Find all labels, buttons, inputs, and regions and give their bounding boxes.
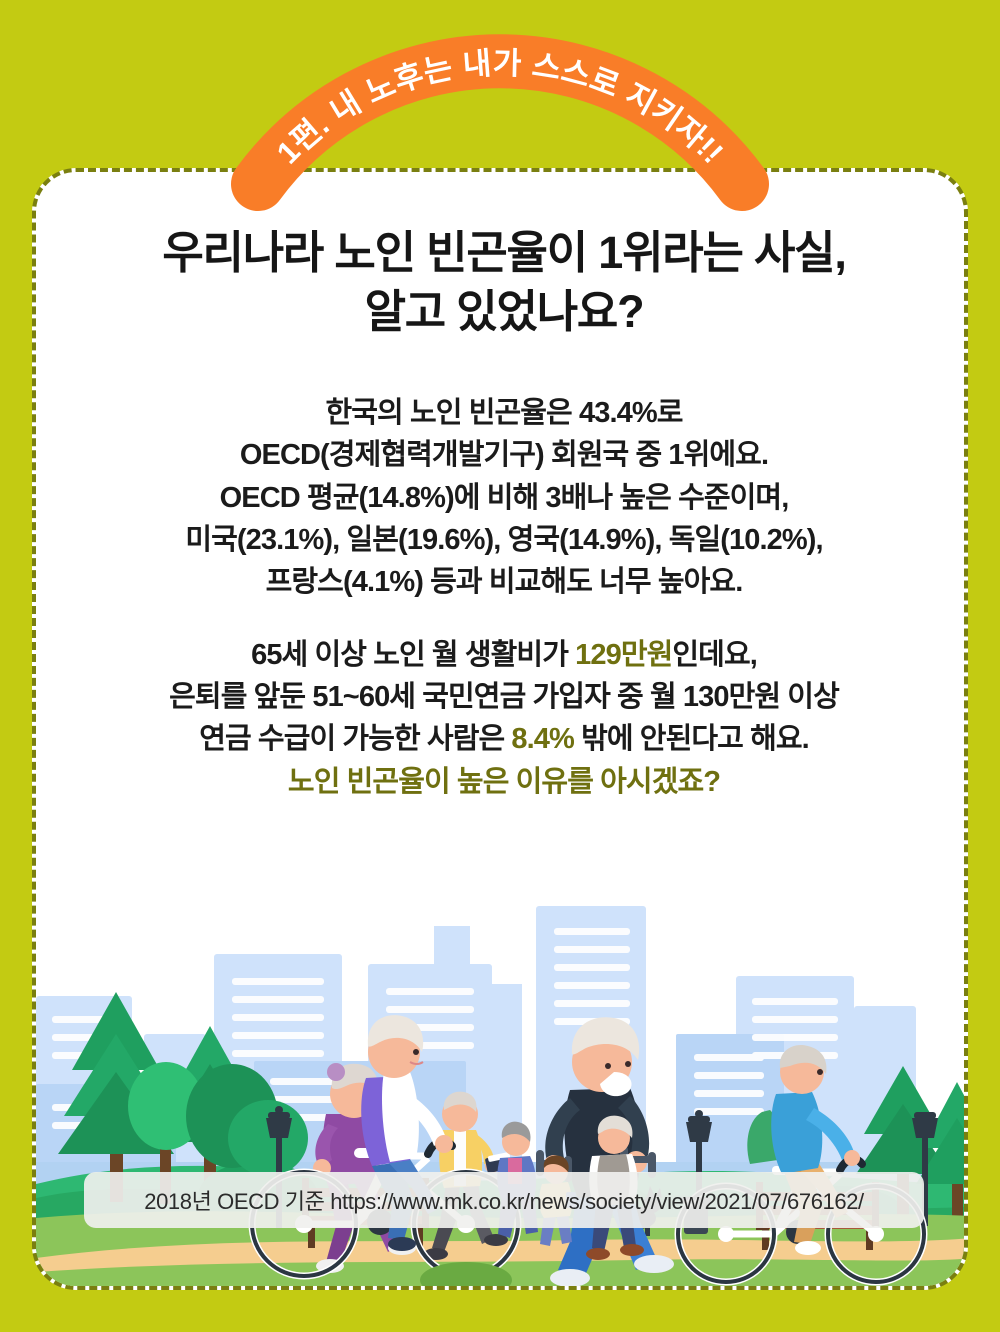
- content-card: 우리나라 노인 빈곤율이 1위라는 사실, 알고 있었나요? 한국의 노인 빈곤…: [32, 168, 968, 1290]
- heading-line-1: 우리나라 노인 빈곤율이 1위라는 사실,: [36, 224, 968, 283]
- highlight-pension-share: 8.4%: [511, 723, 574, 755]
- p1-line-5: 프랑스(4.1%) 등과 비교해도 너무 높아요.: [36, 561, 968, 603]
- paragraph-oecd-comparison: 한국의 노인 빈곤율은 43.4%로 OECD(경제협력개발기구) 회원국 중 …: [36, 392, 968, 604]
- p2-line-3: 연금 수급이 가능한 사람은 8.4% 밖에 안된다고 해요.: [36, 718, 968, 760]
- p1-line-1: 한국의 노인 빈곤율은 43.4%로: [36, 392, 968, 434]
- p2-line-1-prefix: 65세 이상 노인 월 생활비가: [251, 639, 575, 671]
- p2-line-3-prefix: 연금 수급이 가능한 사람은: [199, 723, 511, 755]
- p2-line-1: 65세 이상 노인 월 생활비가 129만원인데요,: [36, 634, 968, 676]
- source-text: 2018년 OECD 기준 https://www.mk.co.kr/news/…: [144, 1184, 864, 1216]
- paragraph-pension-gap: 65세 이상 노인 월 생활비가 129만원인데요, 은퇴를 앞둔 51~60세…: [36, 634, 968, 803]
- p2-line-3-suffix: 밖에 안된다고 해요.: [574, 723, 809, 755]
- poster-canvas: 우리나라 노인 빈곤율이 1위라는 사실, 알고 있었나요? 한국의 노인 빈곤…: [0, 0, 1000, 1332]
- page-title: 우리나라 노인 빈곤율이 1위라는 사실, 알고 있었나요?: [36, 224, 968, 341]
- heading-line-2: 알고 있었나요?: [36, 283, 968, 342]
- arched-banner: 1편. 내 노후는 내가 스스로 지키자!!: [0, 56, 1000, 186]
- body-copy: 한국의 노인 빈곤율은 43.4%로 OECD(경제협력개발기구) 회원국 중 …: [36, 392, 968, 803]
- highlight-living-cost: 129만원: [575, 639, 672, 671]
- p1-line-3: OECD 평균(14.8%)에 비해 3배나 높은 수준이며,: [36, 477, 968, 519]
- p2-line-1-suffix: 인데요,: [672, 639, 757, 671]
- banner-ribbon: [258, 61, 742, 184]
- p1-line-4: 미국(23.1%), 일본(19.6%), 영국(14.9%), 독일(10.2…: [36, 519, 968, 561]
- p1-line-2: OECD(경제협력개발기구) 회원국 중 1위에요.: [36, 434, 968, 476]
- banner-label: 1편. 내 노후는 내가 스스로 지키자!!: [270, 46, 730, 171]
- source-footnote: 2018년 OECD 기준 https://www.mk.co.kr/news/…: [84, 1172, 924, 1228]
- p2-line-2: 은퇴를 앞둔 51~60세 국민연금 가입자 중 월 130만원 이상: [36, 676, 968, 718]
- p2-line-4-closing: 노인 빈곤율이 높은 이유를 아시겠죠?: [36, 761, 968, 803]
